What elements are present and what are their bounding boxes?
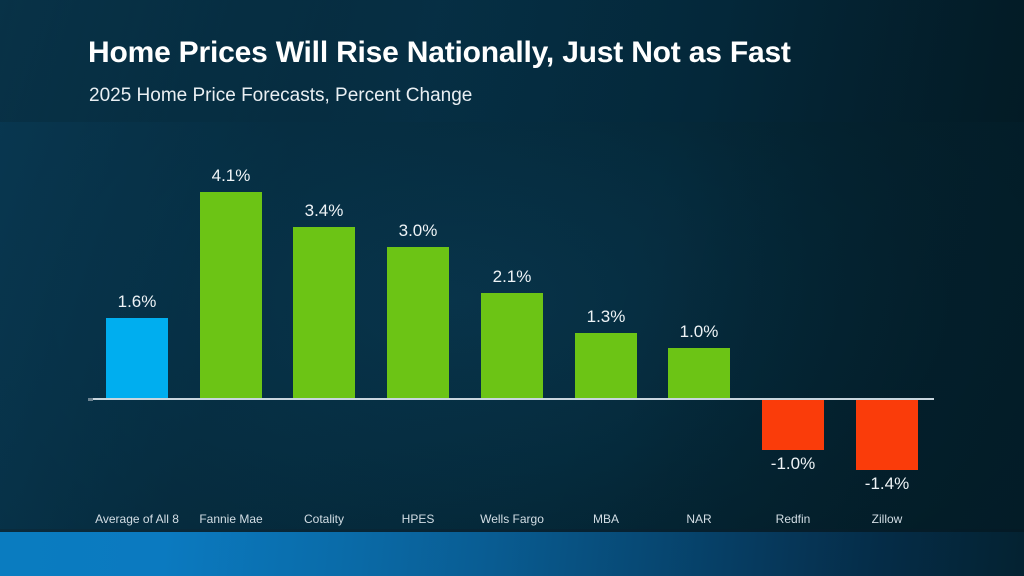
bar-value-label: 1.6% <box>72 292 202 312</box>
bar-nar[interactable] <box>668 348 730 398</box>
bar-chart-plot: 1.6%Average of All 84.1%Fannie Mae3.4%Co… <box>0 0 1024 576</box>
category-label-zillow: Zillow <box>822 512 952 526</box>
bar-hpes[interactable] <box>387 247 449 398</box>
bar-zillow[interactable] <box>856 400 918 470</box>
bar-value-label: 2.1% <box>447 267 577 287</box>
bar-average-of-all-8[interactable] <box>106 318 168 398</box>
slide-canvas: Home Prices Will Rise Nationally, Just N… <box>0 0 1024 576</box>
bar-value-label: -1.0% <box>728 454 858 474</box>
bar-value-label: 4.1% <box>166 166 296 186</box>
bar-value-label: 3.4% <box>259 201 389 221</box>
bar-cotality[interactable] <box>293 227 355 398</box>
bar-value-label: 3.0% <box>353 221 483 241</box>
bar-mba[interactable] <box>575 333 637 398</box>
bar-redfin[interactable] <box>762 400 824 450</box>
zero-axis-line-cap <box>88 398 93 401</box>
bar-wells-fargo[interactable] <box>481 293 543 398</box>
bottom-accent-bar <box>0 532 1024 576</box>
bar-value-label: 1.0% <box>634 322 764 342</box>
bar-value-label: -1.4% <box>822 474 952 494</box>
bar-fannie-mae[interactable] <box>200 192 262 398</box>
